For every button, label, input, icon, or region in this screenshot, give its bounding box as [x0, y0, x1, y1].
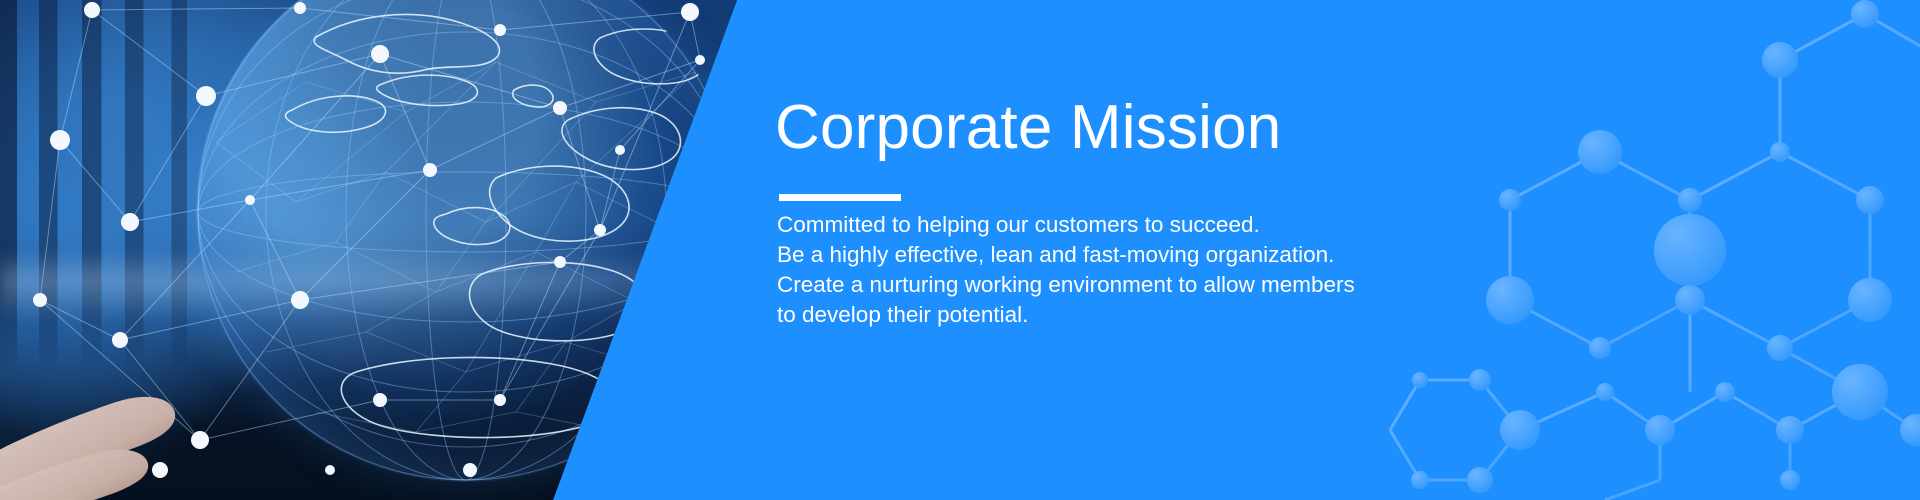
mission-line: Be a highly effective, lean and fast-mov…	[777, 240, 1377, 270]
mission-line: Create a nurturing working environment t…	[777, 270, 1377, 300]
mission-content: Corporate Mission Committed to helping o…	[775, 0, 1775, 500]
title-divider	[779, 194, 901, 201]
mission-line: to develop their potential.	[777, 300, 1377, 330]
corporate-mission-banner: Corporate Mission Committed to helping o…	[0, 0, 1920, 500]
hero-photo	[0, 0, 780, 500]
mission-statement: Committed to helping our customers to su…	[777, 210, 1377, 330]
mission-line: Committed to helping our customers to su…	[777, 210, 1377, 240]
network-nodes-overlay	[0, 0, 780, 500]
page-title: Corporate Mission	[775, 95, 1281, 161]
